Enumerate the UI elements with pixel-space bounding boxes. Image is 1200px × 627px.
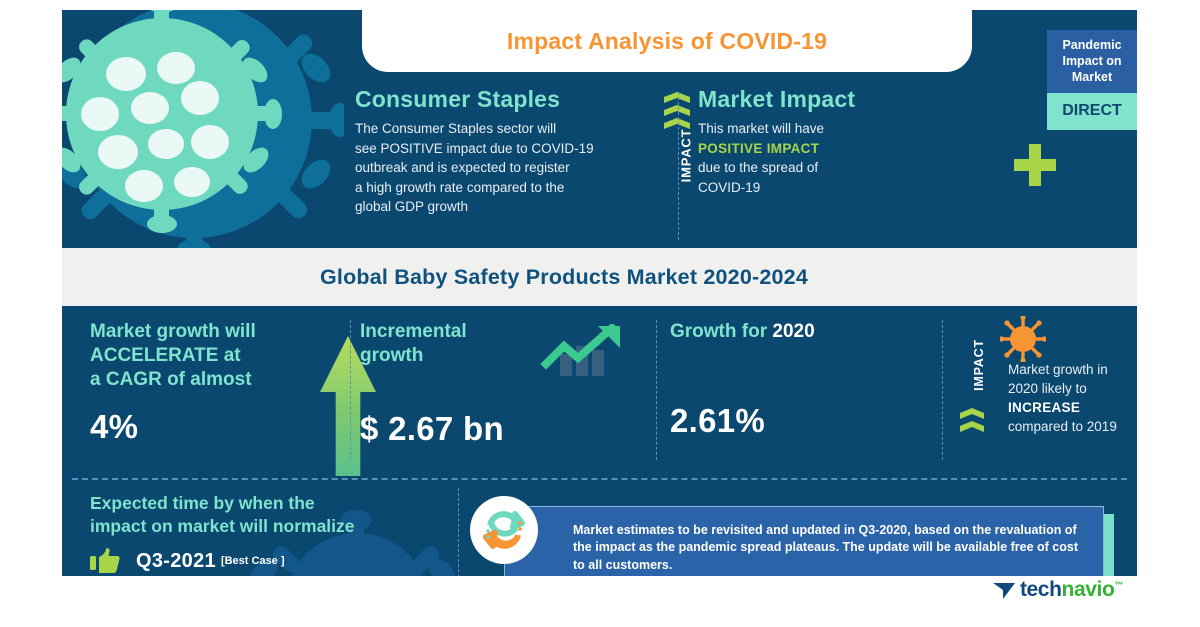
refresh-icon bbox=[482, 508, 526, 552]
plus-icon bbox=[1014, 144, 1056, 186]
refresh-icon-circle bbox=[470, 496, 538, 564]
staples-line-3: outbreak and is expected to register bbox=[355, 158, 645, 178]
consumer-staples-heading: Consumer Staples bbox=[355, 86, 645, 113]
impact-2020-line-3: compared to 2019 bbox=[1008, 417, 1137, 436]
stat-growth-2020: Growth for 2020 2.61% bbox=[670, 320, 900, 440]
infographic-canvas: Impact Analysis of COVID-19 Consumer Sta… bbox=[62, 10, 1137, 608]
stats-row: Market growth will ACCELERATE at a CAGR … bbox=[62, 306, 1137, 478]
normalize-heading: Expected time by when the impact on mark… bbox=[90, 492, 420, 538]
stats-divider bbox=[350, 320, 351, 460]
stat-cagr-line-2: ACCELERATE at bbox=[90, 344, 330, 368]
stat-cagr-line-1: Market growth will bbox=[90, 320, 330, 344]
chevron-up-icon bbox=[664, 92, 690, 103]
trend-up-chart-icon bbox=[540, 324, 632, 380]
technavio-arrow-icon bbox=[991, 579, 1017, 601]
page-title: Impact Analysis of COVID-19 bbox=[362, 10, 972, 72]
staples-line-2: see POSITIVE impact due to COVID-19 bbox=[355, 139, 645, 159]
market-impact-column: Market Impact This market will have POSI… bbox=[698, 86, 958, 197]
stats-divider bbox=[656, 320, 657, 460]
vertical-divider bbox=[678, 92, 679, 240]
market-impact-body: This market will have POSITIVE IMPACT du… bbox=[698, 119, 958, 197]
staples-line-4: a high growth rate compared to the bbox=[355, 178, 645, 198]
impact-2020-text: Market growth in 2020 likely to INCREASE… bbox=[1008, 360, 1137, 436]
stat-growth-heading-year: 2020 bbox=[772, 321, 814, 342]
impact-badge-top: IMPACT bbox=[660, 92, 700, 242]
logo-band bbox=[62, 576, 1137, 608]
stats-divider bbox=[942, 320, 943, 460]
horizontal-divider bbox=[72, 478, 1127, 480]
market-impact-post-2: COVID-19 bbox=[698, 178, 958, 198]
brand-name-part1: tech bbox=[1020, 578, 1062, 601]
stat-cagr-heading: Market growth will ACCELERATE at a CAGR … bbox=[90, 320, 330, 392]
market-impact-heading: Market Impact bbox=[698, 86, 958, 113]
normalize-heading-line-1: Expected time by when the bbox=[90, 492, 420, 515]
pandemic-impact-box: Pandemic Impact on Market DIRECT bbox=[1047, 30, 1137, 130]
page-title-text: Impact Analysis of COVID-19 bbox=[507, 28, 827, 55]
brand-trademark: ™ bbox=[1114, 580, 1123, 590]
stat-impact-2020: Market growth in 2020 likely to INCREASE… bbox=[960, 320, 1137, 436]
brand-name: technavio™ bbox=[1020, 578, 1123, 602]
brand-logo: technavio™ bbox=[991, 578, 1123, 602]
market-impact-highlight: POSITIVE IMPACT bbox=[698, 139, 958, 159]
consumer-staples-column: Consumer Staples The Consumer Staples se… bbox=[355, 86, 645, 217]
pandemic-impact-heading: Pandemic Impact on Market bbox=[1047, 30, 1137, 93]
stat-cagr: Market growth will ACCELERATE at a CAGR … bbox=[90, 320, 330, 446]
best-case-label: Q3-2021 bbox=[136, 550, 216, 573]
impact-vertical-label: IMPACT bbox=[679, 108, 694, 204]
impact-2020-line-1: Market growth in bbox=[1008, 360, 1137, 379]
stat-growth-value: 2.61% bbox=[670, 402, 900, 440]
stat-growth-heading: Growth for 2020 bbox=[670, 320, 900, 344]
stat-growth-heading-mint: Growth for bbox=[670, 321, 772, 342]
brand-name-part2: navio bbox=[1062, 578, 1115, 601]
stat-cagr-value: 4% bbox=[90, 408, 330, 446]
impact-analysis-row: Consumer Staples The Consumer Staples se… bbox=[62, 72, 1137, 248]
impact-2020-emphasis: INCREASE bbox=[1008, 398, 1137, 417]
consumer-staples-body: The Consumer Staples sector will see POS… bbox=[355, 119, 645, 217]
pandemic-impact-value: DIRECT bbox=[1047, 93, 1137, 130]
note-text: Market estimates to be revisited and upd… bbox=[505, 522, 1103, 575]
stat-incremental-value: $ 2.67 bn bbox=[360, 410, 590, 448]
market-impact-post-1: due to the spread of bbox=[698, 158, 958, 178]
best-case-note: [Best Case ] bbox=[221, 555, 285, 567]
market-title-band: Global Baby Safety Products Market 2020-… bbox=[62, 248, 1137, 306]
market-impact-pre: This market will have bbox=[698, 119, 958, 139]
staples-line-5: global GDP growth bbox=[355, 197, 645, 217]
best-case-row: Q3-2021 [Best Case ] bbox=[90, 548, 420, 574]
thumbs-up-icon bbox=[90, 548, 120, 574]
staples-line-1: The Consumer Staples sector will bbox=[355, 119, 645, 139]
stat-cagr-line-3: a CAGR of almost bbox=[90, 368, 330, 392]
normalize-heading-line-2: impact on market will normalize bbox=[90, 515, 420, 538]
impact-2020-line-2: 2020 likely to bbox=[1008, 379, 1137, 398]
market-title-text: Global Baby Safety Products Market 2020-… bbox=[320, 265, 808, 290]
